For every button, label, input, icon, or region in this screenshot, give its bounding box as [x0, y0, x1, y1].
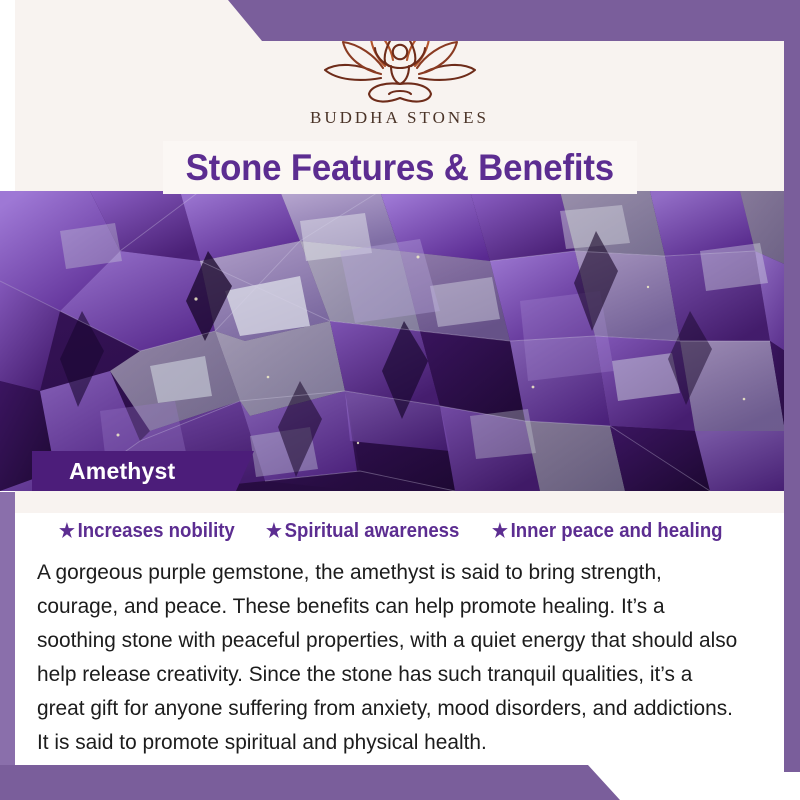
stone-name: Amethyst: [69, 458, 175, 485]
star-icon: ★: [266, 522, 282, 541]
stone-description: A gorgeous purple gemstone, the amethyst…: [37, 556, 740, 760]
stone-info-poster: BUDDHA STONES Stone Features & Benefits: [0, 0, 800, 800]
amethyst-photo: [0, 191, 800, 491]
benefit-item-2: ★ Inner peace and healing: [492, 520, 723, 543]
frame-bottom-bar: [0, 765, 800, 800]
title-band: Stone Features & Benefits: [163, 141, 637, 194]
benefit-item-0: ★ Increases nobility: [59, 520, 235, 543]
star-icon: ★: [59, 522, 75, 541]
benefit-item-1: ★ Spiritual awareness: [266, 520, 459, 543]
page-title: Stone Features & Benefits: [186, 147, 614, 189]
star-icon: ★: [492, 522, 508, 541]
frame-left-bar: [0, 492, 15, 800]
photo-separator: [15, 491, 784, 513]
benefit-label: Inner peace and healing: [511, 520, 723, 543]
amethyst-crystal-cluster-graphic: [0, 191, 800, 491]
brand-wordmark: BUDDHA STONES: [310, 108, 489, 128]
benefit-label: Increases nobility: [78, 520, 235, 543]
benefit-label: Spiritual awareness: [285, 520, 460, 543]
frame-right-bar: [784, 0, 800, 772]
benefits-list: ★ Increases nobility ★ Spiritual awarene…: [15, 513, 784, 543]
content-area: ★ Increases nobility ★ Spiritual awarene…: [15, 513, 784, 765]
stone-name-banner: Amethyst: [32, 451, 254, 491]
